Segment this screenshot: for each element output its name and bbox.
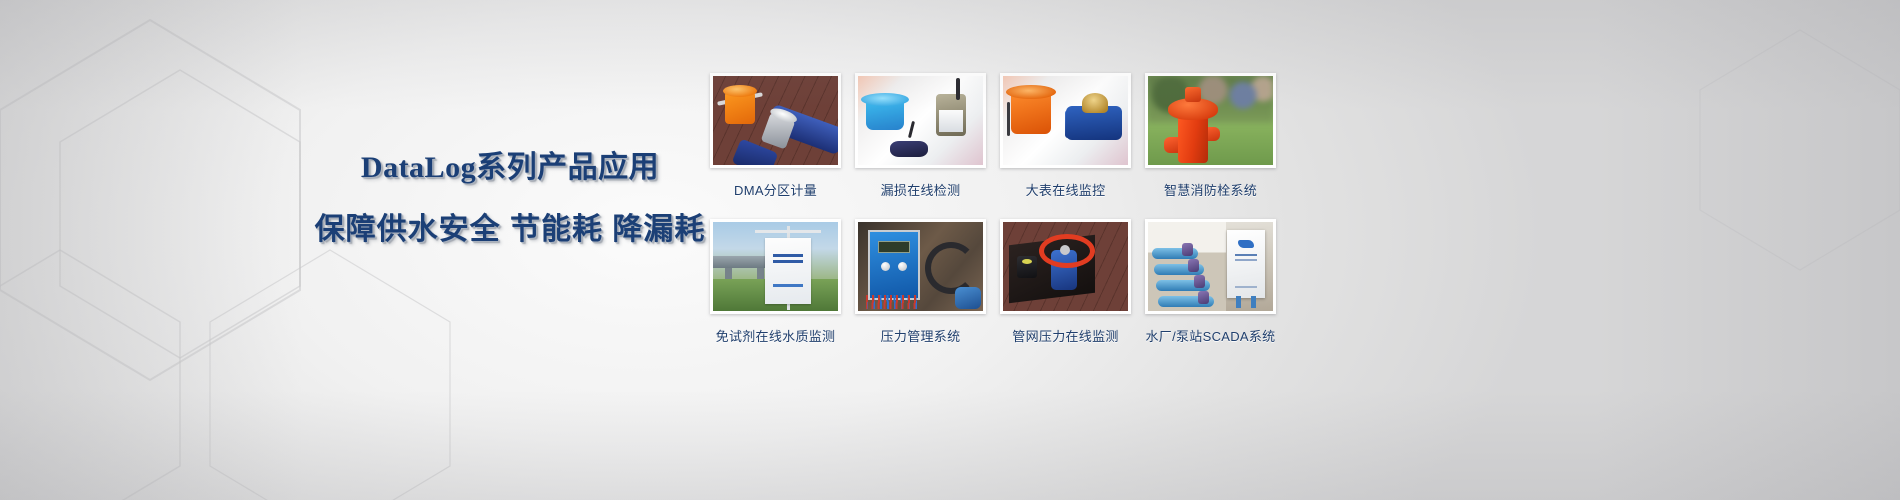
headline-block: DataLog系列产品应用 保障供水安全 节能耗 降漏耗 bbox=[300, 148, 720, 250]
product-thumbnail[interactable] bbox=[1000, 219, 1131, 314]
product-thumbnail[interactable] bbox=[855, 73, 986, 168]
product-thumbnail[interactable] bbox=[1145, 73, 1276, 168]
product-card-leak-detection[interactable]: 漏损在线检测 bbox=[850, 73, 991, 219]
product-thumbnail[interactable] bbox=[710, 73, 841, 168]
headline-line-2: 保障供水安全 节能耗 降漏耗 bbox=[300, 210, 720, 250]
product-card-dma-metering[interactable]: DMA分区计量 bbox=[705, 73, 846, 219]
product-thumbnail[interactable] bbox=[1000, 73, 1131, 168]
product-thumbnail[interactable] bbox=[1145, 219, 1276, 314]
water-quality-station-photo bbox=[713, 222, 838, 311]
product-caption: 大表在线监控 bbox=[1026, 180, 1106, 199]
product-thumbnail[interactable] bbox=[855, 219, 986, 314]
pressure-cabinet-photo bbox=[858, 222, 983, 311]
product-card-pipeline-pressure[interactable]: 管网压力在线监测 bbox=[995, 219, 1136, 365]
headline-line-1: DataLog系列产品应用 bbox=[300, 148, 720, 188]
product-card-scada[interactable]: 水厂/泵站SCADA系统 bbox=[1140, 219, 1281, 365]
product-card-fire-hydrant[interactable]: 智慧消防栓系统 bbox=[1140, 73, 1281, 219]
fire-hydrant-photo bbox=[1148, 76, 1273, 165]
product-card-water-quality[interactable]: 免试剂在线水质监测 bbox=[705, 219, 846, 365]
product-caption: 漏损在线检测 bbox=[881, 180, 961, 199]
product-caption: 智慧消防栓系统 bbox=[1164, 180, 1257, 199]
product-caption: 压力管理系统 bbox=[881, 326, 961, 345]
product-caption: 免试剂在线水质监测 bbox=[716, 326, 836, 345]
product-application-banner: DataLog系列产品应用 保障供水安全 节能耗 降漏耗 DMA分区计量 漏损在… bbox=[0, 0, 1900, 500]
product-caption: 管网压力在线监测 bbox=[1012, 326, 1118, 345]
bulk-meter-photo bbox=[1003, 76, 1128, 165]
product-card-bulk-meter[interactable]: 大表在线监控 bbox=[995, 73, 1136, 219]
product-thumbnail[interactable] bbox=[710, 219, 841, 314]
pump-station-scada-photo bbox=[1148, 222, 1273, 311]
leak-logger-photo bbox=[858, 76, 983, 165]
pipeline-valve-photo bbox=[1003, 222, 1128, 311]
product-card-pressure-management[interactable]: 压力管理系统 bbox=[850, 219, 991, 365]
product-caption: 水厂/泵站SCADA系统 bbox=[1145, 326, 1275, 345]
product-grid: DMA分区计量 漏损在线检测 大表在线监控 bbox=[705, 73, 1281, 365]
dma-metering-photo bbox=[713, 76, 838, 165]
product-caption: DMA分区计量 bbox=[734, 180, 817, 199]
